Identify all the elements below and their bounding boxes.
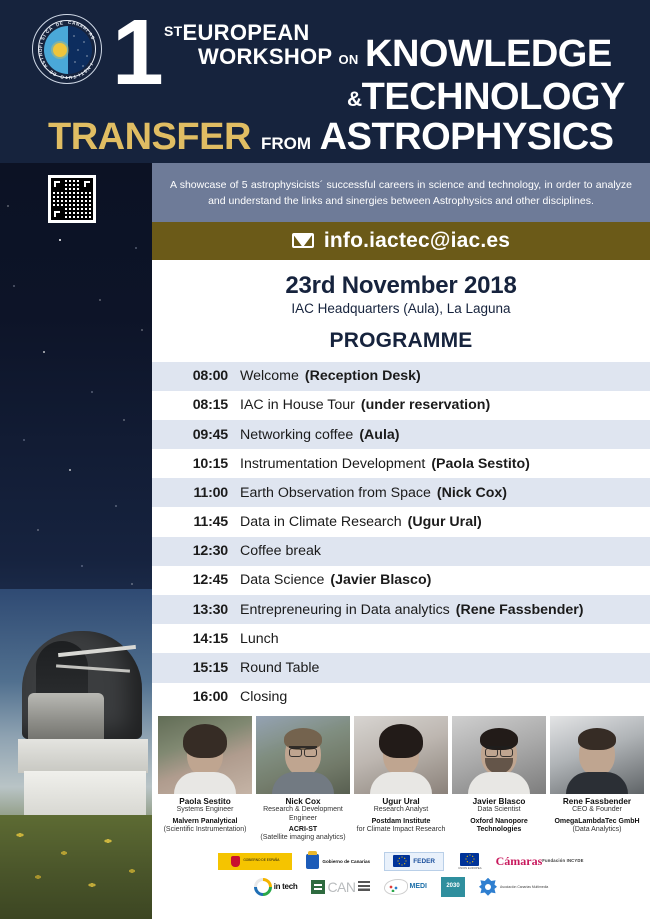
schedule-entry: Earth Observation from Space(Nick Cox): [240, 485, 650, 501]
contact-email[interactable]: info.iactec@iac.es: [324, 229, 510, 253]
logo-medi-caption: MEDI: [410, 883, 428, 891]
intech-ring-icon: [254, 878, 272, 896]
schedule-entry: Data Science(Javier Blasco): [240, 572, 650, 588]
title-technology-line: &TECHNOLOGY: [347, 76, 625, 119]
schedule-time: 08:15: [152, 397, 240, 413]
speaker-role: Research Analyst: [354, 806, 448, 814]
qr-finder-top-left: [51, 178, 63, 190]
schedule-entry: Closing: [240, 689, 650, 705]
speaker-organization: Oxford Nanopore Technologies: [452, 818, 546, 835]
schedule-detail: (Paola Sestito): [431, 456, 530, 472]
event-info: 23rd November 2018 IAC Headquarters (Aul…: [152, 260, 650, 316]
medi-map-icon: [384, 879, 408, 895]
schedule-title: IAC in House Tour: [240, 397, 355, 413]
schedule-row: 12:45Data Science(Javier Blasco): [152, 566, 650, 595]
speaker-card: Nick CoxResearch & Development EngineerA…: [254, 716, 352, 843]
logo-can: CAN: [311, 879, 369, 895]
ordinal-number: 1: [112, 14, 164, 90]
logo-multimedia-caption: Asociación Canarias Multimedia: [500, 885, 548, 889]
logo-union-europea: UNION EUROPEA: [458, 853, 481, 870]
qr-finder-bottom-left: [51, 208, 63, 220]
schedule-time: 16:00: [152, 689, 240, 705]
schedule-table: 08:00Welcome(Reception Desk)08:15IAC in …: [152, 362, 650, 712]
title-workshop: WORKSHOP: [198, 44, 332, 69]
speaker-role: CEO & Founder: [550, 806, 644, 814]
description-text: A showcase of 5 astrophysicists´ success…: [170, 177, 632, 210]
glasses-icon: [485, 746, 513, 753]
schedule-time: 13:30: [152, 602, 240, 618]
speaker-torso: [566, 772, 628, 794]
schedule-row: 14:15Lunch: [152, 624, 650, 653]
schedule-entry: Instrumentation Development(Paola Sestit…: [240, 456, 650, 472]
schedule-time: 11:00: [152, 485, 240, 501]
eu-flag-icon-2: [460, 853, 479, 866]
speaker-hair: [183, 724, 227, 758]
schedule-entry: Lunch: [240, 631, 650, 647]
schedule-entry: Networking coffee(Aula): [240, 427, 650, 443]
qr-code[interactable]: [48, 175, 96, 223]
schedule-row: 08:15IAC in House Tour(under reservation…: [152, 391, 650, 420]
schedule-title: Closing: [240, 689, 287, 705]
schedule-row: 15:15Round Table: [152, 653, 650, 682]
can-bars-icon: [358, 881, 370, 893]
glasses-icon: [289, 746, 317, 753]
logo-camaras: Cámaras Fundación INCYDE: [496, 855, 584, 867]
speaker-organization: Malvern Panalytical: [158, 818, 252, 826]
schedule-entry: Data in Climate Research(Ugur Ural): [240, 514, 650, 530]
logo-gobierno-espana-caption: GOBIERNO DE ESPAÑA: [243, 859, 279, 863]
canarias-crest-icon: [306, 854, 319, 869]
speaker-field: for Climate Impact Research: [354, 826, 448, 834]
speaker-organization: Postdam Institute: [354, 818, 448, 826]
schedule-title: Entrepreneuring in Data analytics: [240, 602, 450, 618]
title-line-2: WORKSHOP ON: [198, 44, 359, 70]
schedule-row: 11:45Data in Climate Research(Ugur Ural): [152, 507, 650, 536]
schedule-time: 10:15: [152, 456, 240, 472]
logo-camaras-caption: Cámaras: [496, 855, 543, 867]
observatory-building: [24, 771, 146, 819]
logo-camaras-subcaption: Fundación INCYDE: [542, 859, 583, 864]
schedule-title: Earth Observation from Space: [240, 485, 431, 501]
speaker-photo: [158, 716, 252, 794]
speaker-card: Rene FassbenderCEO & FounderOmegaLambdaT…: [548, 716, 646, 843]
mountain-vegetation: [0, 815, 152, 919]
logo-canarias-2030: 2030: [441, 877, 465, 897]
schedule-row: 11:00Earth Observation from Space(Nick C…: [152, 478, 650, 507]
poster-header: INSTITUTO DE ASTROFISICA DE CANARIAS 1 S…: [0, 0, 650, 163]
iac-logo-icon: INSTITUTO DE ASTROFISICA DE CANARIAS: [32, 14, 102, 84]
title-astrophysics: ASTROPHYSICS: [320, 116, 614, 158]
speaker-card: Paola SestitoSystems EngineerMalvern Pan…: [156, 716, 254, 843]
programme-heading: PROGRAMME: [152, 329, 650, 353]
telescope-barrel: [28, 693, 104, 745]
schedule-entry: IAC in House Tour(under reservation): [240, 397, 650, 413]
speaker-card: Javier BlascoData ScientistOxford Nanopo…: [450, 716, 548, 843]
seal-circular-text: INSTITUTO DE ASTROFISICA DE CANARIAS: [33, 15, 102, 84]
title-transfer: TRANSFER: [48, 116, 251, 158]
schedule-title: Networking coffee: [240, 427, 353, 443]
ordinal-suffix: ST: [164, 23, 183, 39]
schedule-title: Data Science: [240, 572, 324, 588]
title-from: FROM: [261, 134, 311, 153]
title-knowledge: KNOWLEDGE: [365, 33, 612, 76]
title-ampersand: &: [347, 88, 362, 111]
can-mark-icon: [311, 880, 325, 894]
schedule-detail: (Javier Blasco): [330, 572, 431, 588]
speaker-torso: [370, 772, 432, 794]
speaker-photo: [354, 716, 448, 794]
title-technology: TECHNOLOGY: [362, 76, 625, 118]
schedule-detail: (under reservation): [361, 397, 490, 413]
spain-crest-icon: [231, 856, 240, 867]
eu-flag-icon: [393, 855, 410, 867]
speaker-photo: [256, 716, 350, 794]
sponsor-logos: GOBIERNO DE ESPAÑA Gobierno de Canarias …: [152, 843, 650, 897]
speaker-role: Research & Development Engineer: [256, 806, 350, 823]
title-transfer-line: TRANSFER FROM ASTROPHYSICS: [48, 116, 613, 159]
title-line-1: STEUROPEAN: [164, 20, 310, 46]
logo-union-europea-caption: UNION EUROPEA: [458, 867, 481, 870]
speaker-photo: [550, 716, 644, 794]
observatory-photo: [0, 589, 152, 919]
speaker-name: Paola Sestito: [158, 797, 252, 806]
logo-gobierno-de-canarias: Gobierno de Canarias: [306, 854, 370, 869]
flower-icon: [479, 878, 497, 896]
logo-intech: in tech: [254, 878, 298, 896]
event-date: 23rd November 2018: [152, 272, 650, 300]
schedule-row: 09:45Networking coffee(Aula): [152, 420, 650, 449]
schedule-row: 12:30Coffee break: [152, 537, 650, 566]
schedule-title: Round Table: [240, 660, 319, 676]
speaker-name: Nick Cox: [256, 797, 350, 806]
schedule-detail: (Rene Fassbender): [456, 602, 584, 618]
schedule-entry: Entrepreneuring in Data analytics(Rene F…: [240, 602, 650, 618]
schedule-row: 08:00Welcome(Reception Desk): [152, 362, 650, 391]
description-band: A showcase of 5 astrophysicists´ success…: [152, 163, 650, 222]
schedule-time: 09:45: [152, 427, 240, 443]
logo-canarias-multimedia: Asociación Canarias Multimedia: [479, 878, 548, 896]
logo-gobierno-de-espana: GOBIERNO DE ESPAÑA: [218, 853, 292, 870]
schedule-row: 13:30Entrepreneuring in Data analytics(R…: [152, 595, 650, 624]
speaker-torso: [272, 772, 334, 794]
schedule-time: 15:15: [152, 660, 240, 676]
speaker-card: Ugur UralResearch AnalystPostdam Institu…: [352, 716, 450, 843]
speaker-name: Javier Blasco: [452, 797, 546, 806]
schedule-detail: (Aula): [359, 427, 399, 443]
observatory-base: [18, 739, 148, 773]
schedule-detail: (Ugur Ural): [408, 514, 482, 530]
speaker-name: Rene Fassbender: [550, 797, 644, 806]
sponsor-row-2: in tech CAN MEDI 2030 Asociación Canaria…: [162, 877, 640, 897]
schedule-title: Data in Climate Research: [240, 514, 402, 530]
speaker-torso: [468, 772, 530, 794]
envelope-icon: [292, 233, 314, 248]
contact-email-bar[interactable]: info.iactec@iac.es: [152, 222, 650, 260]
qr-code-pattern: [51, 178, 93, 220]
speaker-name: Ugur Ural: [354, 797, 448, 806]
speaker-field: (Satellite imaging analytics): [256, 834, 350, 842]
logo-intech-caption: in tech: [274, 882, 298, 891]
schedule-time: 12:45: [152, 572, 240, 588]
main-content-panel: A showcase of 5 astrophysicists´ success…: [152, 163, 650, 919]
qr-finder-top-right: [81, 178, 93, 190]
schedule-title: Welcome: [240, 368, 299, 384]
speaker-role: Systems Engineer: [158, 806, 252, 814]
schedule-row: 16:00Closing: [152, 683, 650, 712]
schedule-entry: Round Table: [240, 660, 650, 676]
logo-canarias-caption: Gobierno de Canarias: [322, 859, 370, 865]
logo-feder-caption: FEDER: [413, 858, 435, 865]
title-on: ON: [338, 52, 358, 67]
logo-medi: MEDI: [384, 879, 428, 895]
logo-can-caption: CAN: [327, 879, 355, 895]
event-venue: IAC Headquarters (Aula), La Laguna: [152, 301, 650, 316]
speaker-role: Data Scientist: [452, 806, 546, 814]
speaker-hair: [379, 724, 423, 758]
speaker-field: (Scientific Instrumentation): [158, 826, 252, 834]
schedule-time: 12:30: [152, 543, 240, 559]
speaker-hair: [578, 728, 616, 750]
schedule-detail: (Nick Cox): [437, 485, 507, 501]
speaker-organization: ACRI-ST: [256, 826, 350, 834]
schedule-time: 14:15: [152, 631, 240, 647]
title-european: EUROPEAN: [183, 20, 310, 45]
speaker-torso: [174, 772, 236, 794]
schedule-entry: Welcome(Reception Desk): [240, 368, 650, 384]
schedule-title: Lunch: [240, 631, 279, 647]
schedule-entry: Coffee break: [240, 543, 650, 559]
schedule-time: 08:00: [152, 368, 240, 384]
speakers-gallery: Paola SestitoSystems EngineerMalvern Pan…: [152, 716, 650, 843]
speaker-organization: OmegaLambdaTec GmbH: [550, 818, 644, 826]
schedule-detail: (Reception Desk): [305, 368, 421, 384]
speaker-photo: [452, 716, 546, 794]
logo-feder: FEDER: [384, 852, 444, 871]
schedule-title: Coffee break: [240, 543, 321, 559]
schedule-time: 11:45: [152, 514, 240, 530]
schedule-title: Instrumentation Development: [240, 456, 425, 472]
schedule-row: 10:15Instrumentation Development(Paola S…: [152, 449, 650, 478]
speaker-field: (Data Analytics): [550, 826, 644, 834]
poster: INSTITUTO DE ASTROFISICA DE CANARIAS 1 S…: [0, 0, 650, 919]
sponsor-row-1: GOBIERNO DE ESPAÑA Gobierno de Canarias …: [162, 852, 640, 871]
